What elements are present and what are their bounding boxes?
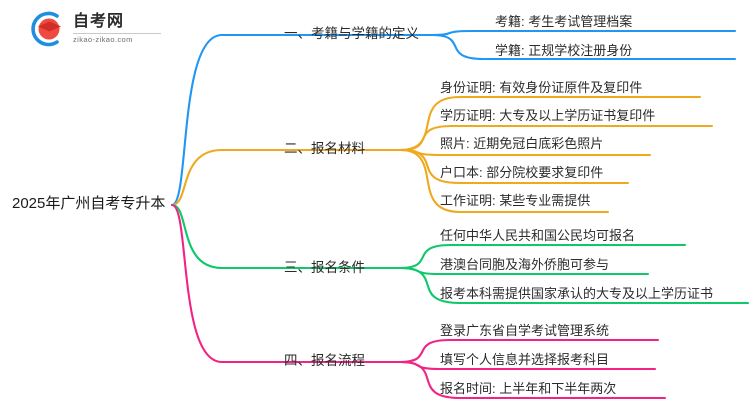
leaf-label-2-3[interactable]: 照片: 近期免冠白底彩色照片 <box>440 133 603 152</box>
leaf-label-4-3[interactable]: 报名时间: 上半年和下半年两次 <box>440 378 616 397</box>
leaf-label-3-3[interactable]: 报考本科需提供国家承认的大专及以上学历证书 <box>440 283 713 302</box>
leaf-label-4-1[interactable]: 登录广东省自学考试管理系统 <box>440 320 609 339</box>
branch-label-3[interactable]: 三、报名条件 <box>284 256 365 276</box>
logo-name-cn: 自考网 <box>73 14 161 30</box>
leaf-label-2-1[interactable]: 身份证明: 有效身份证原件及复印件 <box>440 77 642 96</box>
branch-label-2[interactable]: 二、报名材料 <box>284 137 365 157</box>
logo-url: zikao-zikao.com <box>73 36 161 44</box>
leaf-label-2-5[interactable]: 工作证明: 某些专业需提供 <box>440 190 590 209</box>
site-logo: 自考网 zikao-zikao.com <box>27 8 172 50</box>
circle-graduation-cap-icon <box>27 9 67 49</box>
leaf-label-1-1[interactable]: 考籍: 考生考试管理档案 <box>495 11 632 30</box>
branch-label-4[interactable]: 四、报名流程 <box>284 349 365 369</box>
leaf-label-4-2[interactable]: 填写个人信息并选择报考科目 <box>440 349 609 368</box>
leaf-label-2-4[interactable]: 户口本: 部分院校要求复印件 <box>440 162 603 181</box>
leaf-label-1-2[interactable]: 学籍: 正规学校注册身份 <box>495 40 632 59</box>
branch-label-1[interactable]: 一、考籍与学籍的定义 <box>284 22 419 42</box>
leaf-label-2-2[interactable]: 学历证明: 大专及以上学历证书复印件 <box>440 105 655 124</box>
leaf-label-3-1[interactable]: 任何中华人民共和国公民均可报名 <box>440 225 635 244</box>
root-node-label: 2025年广州自考专升本 <box>12 192 165 213</box>
logo-wordmark: 自考网 zikao-zikao.com <box>73 14 161 44</box>
mindmap-canvas: 自考网 zikao-zikao.com 2025年广州自考专升本 一、考籍与学籍… <box>0 0 750 410</box>
leaf-label-3-2[interactable]: 港澳台同胞及海外侨胞可参与 <box>440 254 609 273</box>
logo-divider <box>73 33 161 34</box>
